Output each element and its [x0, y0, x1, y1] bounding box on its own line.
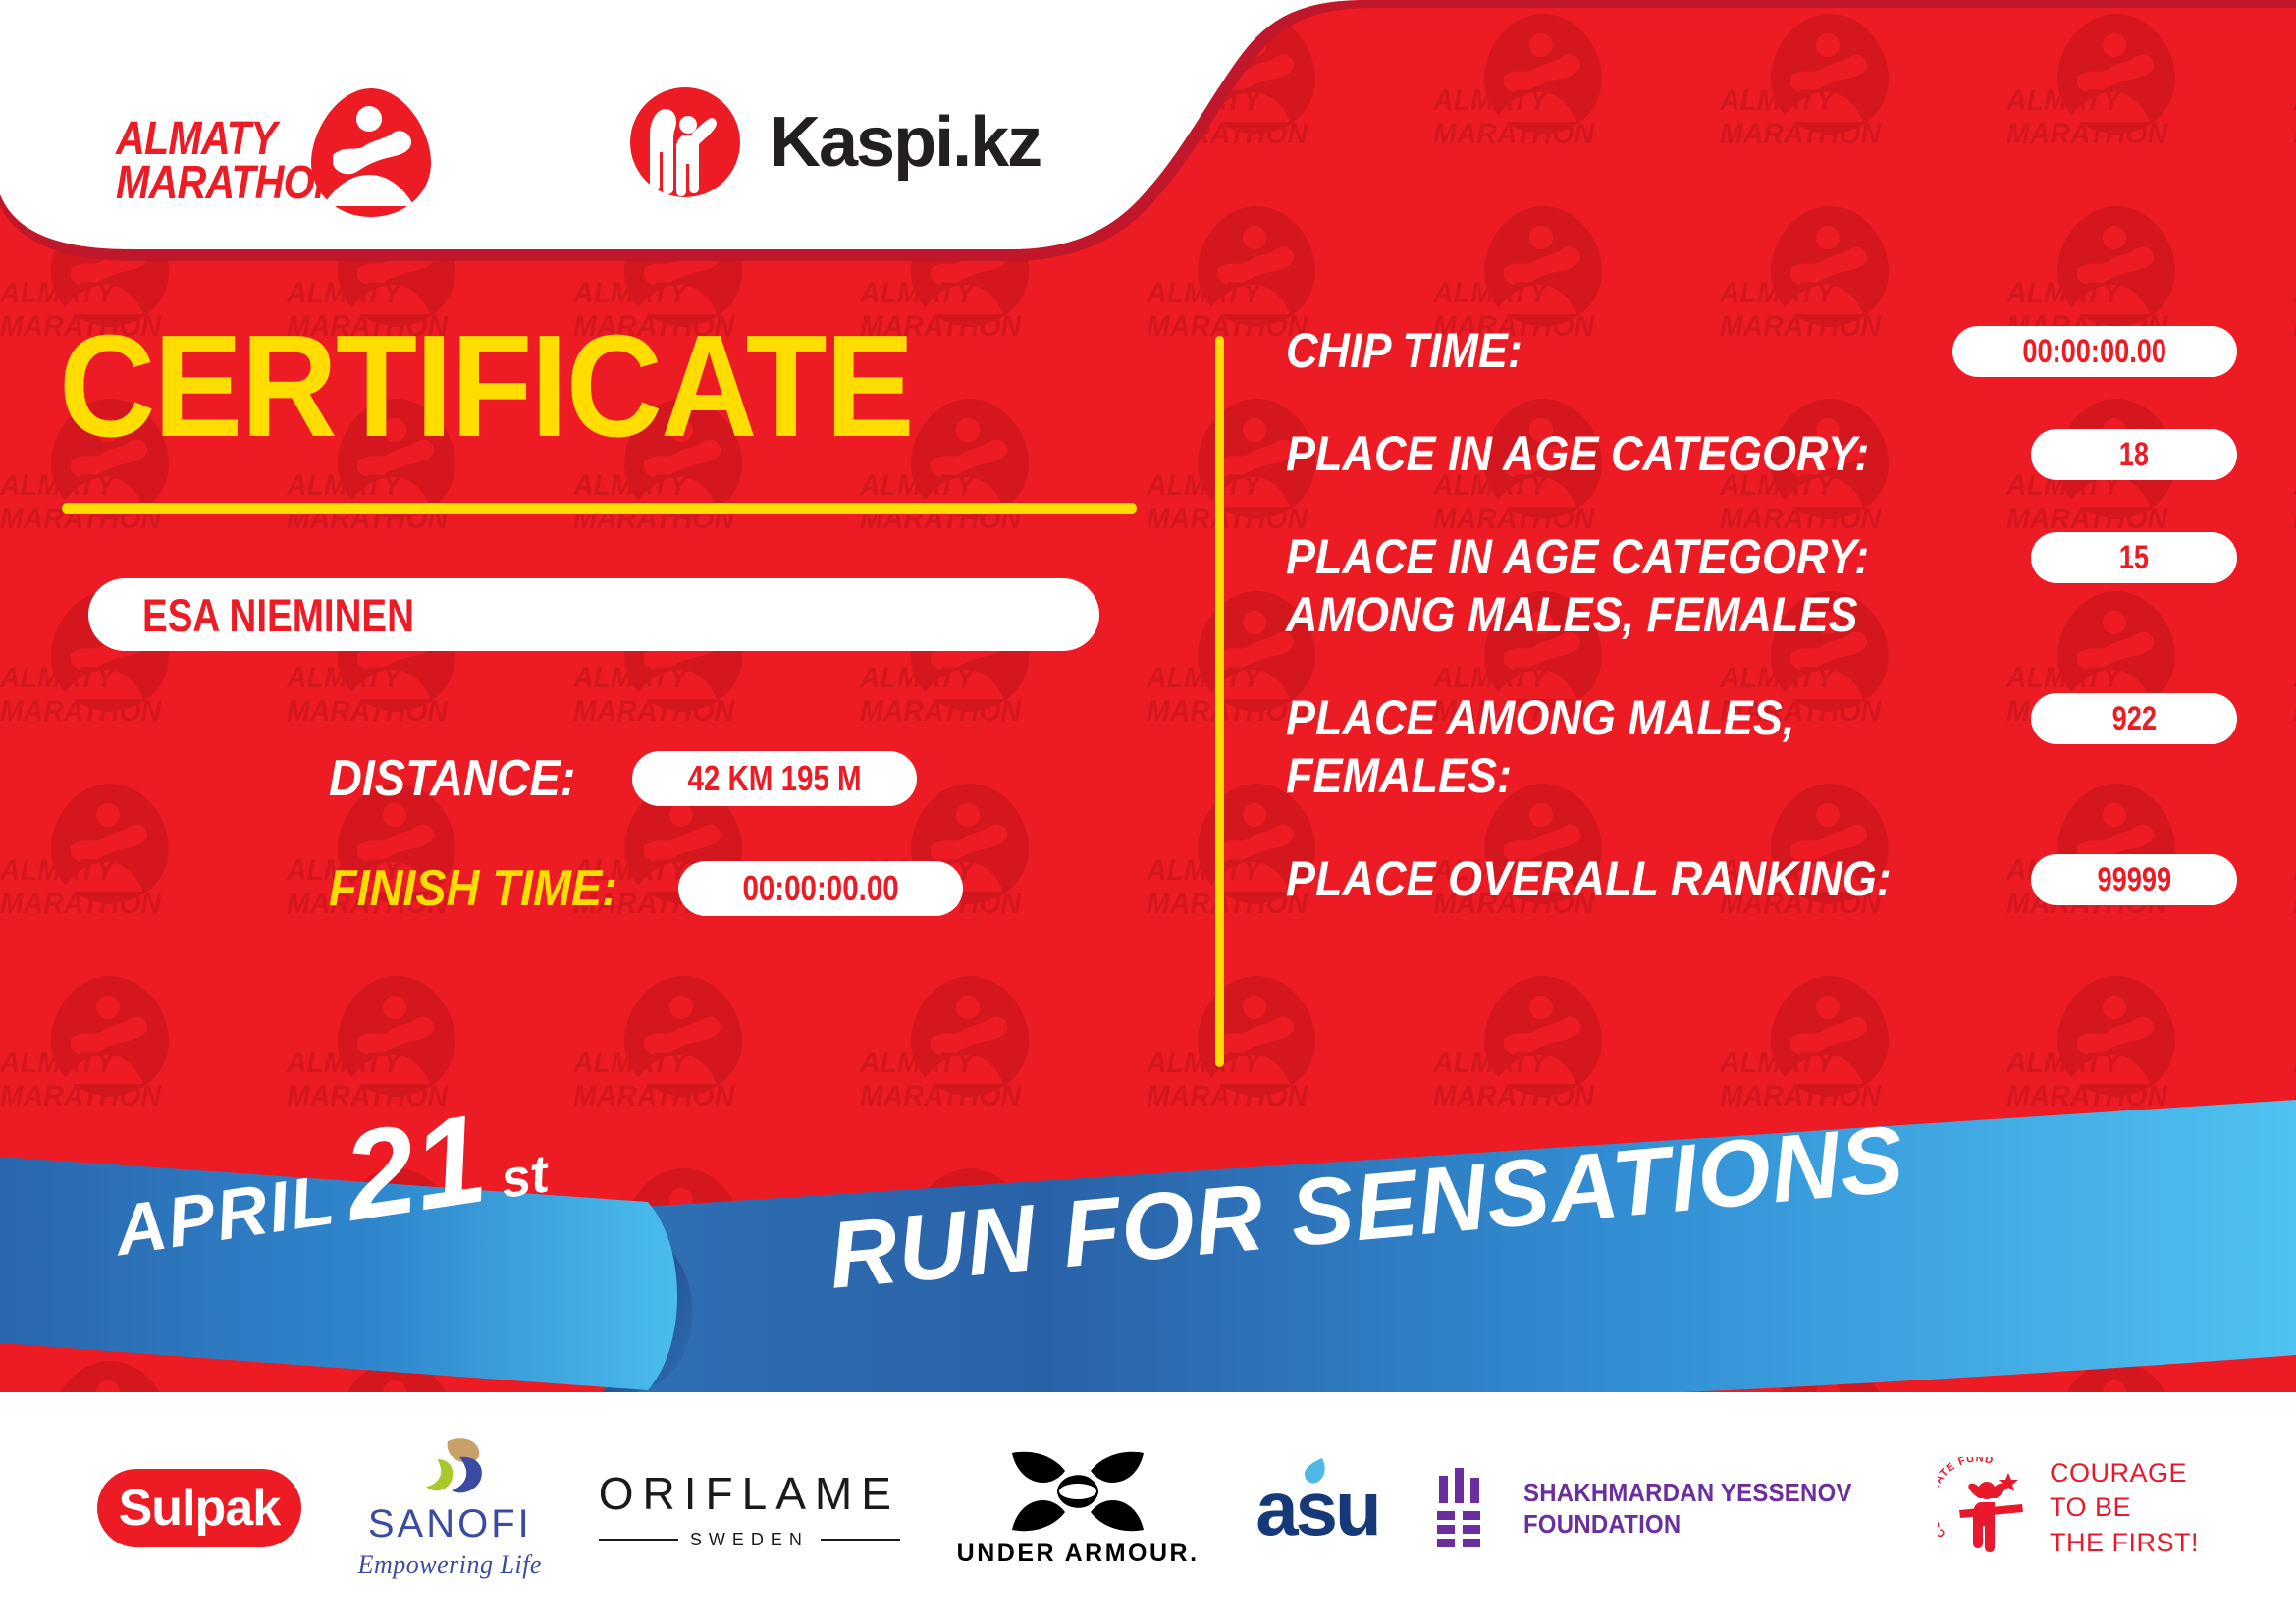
ribbon-day-suffix: st [497, 1143, 553, 1210]
place-age-category-label: PLACE IN AGE CATEGORY: [1286, 425, 1943, 483]
place-age-category-gender-label: PLACE IN AGE CATEGORY: AMONG MALES, FEMA… [1286, 528, 1943, 644]
yessenov-line1: SHAKHMARDAN YESSENOV [1523, 1477, 1852, 1509]
finish-time-value: 00:00:00.00 [743, 868, 899, 909]
yessenov-foundation-wordmark: SHAKHMARDAN YESSENOV FOUNDATION [1523, 1477, 1852, 1541]
courage-line1: COURAGE [2050, 1456, 2199, 1490]
sulpak-wordmark: Sulpak [119, 1479, 281, 1538]
stat-row-place-overall: PLACE OVERALL RANKING: 99999 [1286, 850, 2237, 908]
left-column: CERTIFICATE ESA NIEMINEN DISTANCE: 42 KM… [59, 314, 1148, 918]
sponsor-logo-sulpak: Sulpak [97, 1469, 301, 1547]
stat-row-place-age-category: PLACE IN AGE CATEGORY: 18 [1286, 425, 2237, 483]
stats-column: CHIP TIME: 00:00:00.00 PLACE IN AGE CATE… [1286, 322, 2237, 953]
under-armour-icon [1004, 1449, 1151, 1534]
kaspi-wordmark: Kaspi.kz [770, 102, 1041, 183]
finish-time-label: FINISH TIME: [329, 859, 617, 918]
distance-value-pill: 42 KM 195 M [632, 751, 917, 806]
place-among-gender-label-line2: FEMALES: [1286, 747, 1943, 805]
participant-name-value: ESA NIEMINEN [142, 588, 414, 642]
header-logos: ALMATY MARATHON Kaspi.kz [0, 0, 1041, 285]
sanofi-wordmark: SANOFI [368, 1502, 532, 1546]
oriflame-rule-left [599, 1539, 678, 1541]
oriflame-subtitle-row: SWEDEN [599, 1530, 900, 1550]
asu-droplet-icon [1303, 1456, 1328, 1489]
place-among-gender-value-pill: 922 [2031, 693, 2237, 744]
courage-line3: THE FIRST! [2050, 1526, 2199, 1560]
certificate-title: CERTIFICATE [59, 314, 1061, 460]
finish-time-row: FINISH TIME: 00:00:00.00 [329, 859, 1148, 918]
title-divider-rule [62, 503, 1137, 514]
place-overall-value-pill: 99999 [2031, 854, 2237, 905]
almaty-marathon-logo: ALMATY MARATHON [116, 69, 440, 216]
place-age-category-gender-label-line1: PLACE IN AGE CATEGORY: [1286, 528, 1943, 586]
corporate-fund-runner-icon: CORPORATE FUND [1938, 1457, 2040, 1559]
place-among-gender-label: PLACE AMONG MALES, FEMALES: [1286, 689, 1943, 805]
almaty-marathon-runner-icon [307, 86, 435, 219]
stat-row-place-age-category-gender: PLACE IN AGE CATEGORY: AMONG MALES, FEMA… [1286, 528, 2237, 644]
sulpak-pill: Sulpak [97, 1469, 301, 1547]
kaspi-logo: Kaspi.kz [626, 83, 1041, 201]
place-age-category-gender-value: 15 [2119, 539, 2149, 577]
sponsor-logo-sanofi: SANOFI Empowering Life [358, 1437, 542, 1580]
column-divider [1215, 336, 1224, 1067]
distance-label: DISTANCE: [329, 749, 575, 808]
sponsor-logo-asu: asu [1255, 1464, 1378, 1553]
stat-row-chip-time: CHIP TIME: 00:00:00.00 [1286, 322, 2237, 380]
participant-name-field[interactable]: ESA NIEMINEN [88, 578, 1099, 651]
kaspi-figures-icon [626, 83, 744, 201]
finish-time-value-pill: 00:00:00.00 [678, 861, 963, 916]
certificate-page: ALMATY MARATHON ALMATY MARATHON [0, 0, 2296, 1624]
distance-row: DISTANCE: 42 KM 195 M [329, 749, 1148, 808]
courage-line2: TO BE [2050, 1490, 2199, 1525]
place-age-category-value: 18 [2119, 436, 2149, 474]
ribbon-day: 21 [338, 1102, 493, 1234]
place-among-gender-value: 922 [2111, 700, 2156, 738]
place-age-category-gender-label-line2: AMONG MALES, FEMALES [1286, 586, 1943, 644]
oriflame-wordmark: ORIFLAME [599, 1467, 900, 1520]
sponsor-logo-corporate-fund: CORPORATE FUND COURAGE TO BE THE FIRST! [1938, 1456, 2199, 1559]
yessenov-line2: FOUNDATION [1523, 1508, 1852, 1541]
corporate-fund-wordmark: COURAGE TO BE THE FIRST! [2050, 1456, 2199, 1559]
chip-time-label: CHIP TIME: [1286, 322, 1872, 380]
place-age-category-gender-value-pill: 15 [2031, 532, 2237, 583]
place-overall-value: 99999 [2097, 861, 2171, 899]
sponsor-footer: Sulpak SANOFI Empowering Life ORIFLAME S… [0, 1392, 2296, 1624]
oriflame-subtitle: SWEDEN [690, 1530, 809, 1550]
chip-time-value-pill: 00:00:00.00 [1952, 326, 2237, 377]
yessenov-foundation-icon [1435, 1466, 1498, 1550]
oriflame-rule-right [821, 1539, 900, 1541]
place-among-gender-label-line1: PLACE AMONG MALES, [1286, 689, 1943, 747]
sanofi-mark-icon [408, 1437, 491, 1498]
stat-row-place-among-gender: PLACE AMONG MALES, FEMALES: 922 [1286, 689, 2237, 805]
place-overall-label: PLACE OVERALL RANKING: [1286, 850, 1943, 908]
sponsor-logo-under-armour: UNDER ARMOUR. [957, 1449, 1200, 1568]
sponsor-logo-oriflame: ORIFLAME SWEDEN [599, 1467, 900, 1550]
distance-value: 42 KM 195 M [688, 758, 862, 799]
place-age-category-value-pill: 18 [2031, 429, 2237, 480]
under-armour-wordmark: UNDER ARMOUR. [957, 1540, 1200, 1568]
sanofi-tagline: Empowering Life [358, 1550, 542, 1580]
sponsor-logo-yessenov-foundation: SHAKHMARDAN YESSENOV FOUNDATION [1435, 1466, 1881, 1550]
chip-time-value: 00:00:00.00 [2023, 333, 2167, 371]
